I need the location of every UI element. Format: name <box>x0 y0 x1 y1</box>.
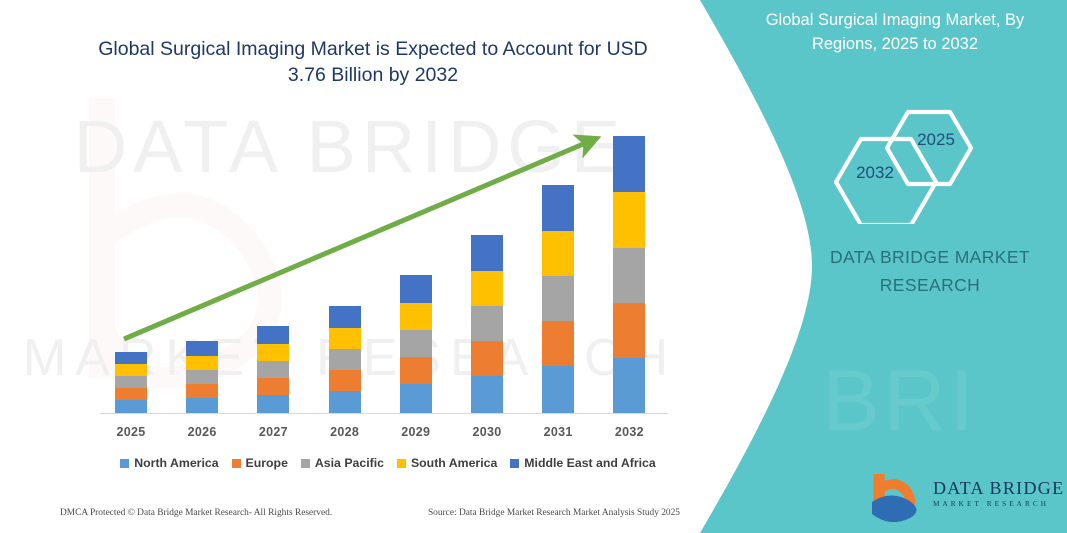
bar-segment <box>542 276 574 321</box>
bar-segment <box>186 341 218 356</box>
bar-segment <box>329 328 361 349</box>
bar-segment <box>186 370 218 384</box>
bar-segment <box>329 306 361 328</box>
legend-swatch-icon <box>510 459 519 468</box>
bar-segment <box>542 321 574 366</box>
hexagon-label-2025: 2025 <box>896 130 976 150</box>
legend-label: South America <box>411 456 497 470</box>
bar-segment <box>471 376 503 413</box>
bar-segment <box>257 395 289 413</box>
legend-item[interactable]: South America <box>397 456 497 470</box>
bar-segment <box>115 400 147 413</box>
bar-segment <box>115 376 147 388</box>
bar-segment <box>257 361 289 378</box>
bar-segment <box>329 370 361 391</box>
logo-title: DATA BRIDGE <box>933 478 1064 499</box>
bar-segment <box>471 306 503 341</box>
bar-segment <box>329 349 361 370</box>
bar-segment <box>400 384 432 413</box>
bar-segment <box>329 391 361 413</box>
x-axis-label-2031: 2031 <box>523 425 593 439</box>
bar-2028 <box>329 306 361 413</box>
hexagon-pair <box>820 96 1050 224</box>
x-axis-label-2032: 2032 <box>594 425 664 439</box>
bar-2032 <box>613 136 645 413</box>
x-axis-line <box>100 413 668 414</box>
panel-watermark: BRI <box>822 353 977 449</box>
bar-segment <box>115 364 147 376</box>
legend-label: Middle East and Africa <box>524 456 655 470</box>
legend-swatch-icon <box>232 459 241 468</box>
bar-segment <box>400 357 432 384</box>
bar-segment <box>257 344 289 361</box>
x-axis-label-2025: 2025 <box>96 425 166 439</box>
footer: DMCA Protected © Data Bridge Market Rese… <box>60 508 680 518</box>
panel-title: Global Surgical Imaging Market, By Regio… <box>735 8 1055 56</box>
legend-item[interactable]: Asia Pacific <box>301 456 384 470</box>
legend-swatch-icon <box>301 459 310 468</box>
legend-item[interactable]: North America <box>120 456 218 470</box>
bar-segment <box>471 235 503 271</box>
bar-2026 <box>186 341 218 413</box>
legend-label: Europe <box>246 456 288 470</box>
bar-segment <box>542 231 574 276</box>
bar-segment <box>471 341 503 376</box>
footer-source: Source: Data Bridge Market Research Mark… <box>428 508 680 518</box>
bar-segment <box>613 192 645 248</box>
bar-2027 <box>257 326 289 413</box>
data-bridge-logo-mark <box>866 470 930 522</box>
bar-segment <box>257 326 289 344</box>
bar-2029 <box>400 275 432 413</box>
infographic-canvas: DATA BRIDGE MARKET RESEARCH Global Surgi… <box>0 0 1067 533</box>
logo-subtitle: MARKET RESEARCH <box>933 500 1049 508</box>
bar-segment <box>186 398 218 413</box>
chart-plot-area: 20252026202720282029203020312032 <box>0 0 700 533</box>
legend-label: Asia Pacific <box>315 456 384 470</box>
bar-segment <box>186 384 218 398</box>
bar-segment <box>400 303 432 330</box>
x-axis-label-2029: 2029 <box>381 425 451 439</box>
chart-legend: North AmericaEuropeAsia PacificSouth Ame… <box>100 456 676 470</box>
bar-segment <box>613 303 645 358</box>
bar-segment <box>613 136 645 192</box>
bar-segment <box>115 388 147 400</box>
x-axis-label-2030: 2030 <box>452 425 522 439</box>
legend-item[interactable]: Middle East and Africa <box>510 456 655 470</box>
legend-swatch-icon <box>397 459 406 468</box>
bar-segment <box>542 366 574 413</box>
bar-segment <box>257 378 289 395</box>
bar-segment <box>186 356 218 370</box>
bar-segment <box>613 358 645 413</box>
x-axis-label-2027: 2027 <box>238 425 308 439</box>
bar-2025 <box>115 352 147 413</box>
bar-segment <box>542 185 574 231</box>
hexagon-label-2032: 2032 <box>835 163 915 183</box>
bar-2030 <box>471 235 503 413</box>
bar-segment <box>115 352 147 364</box>
footer-copyright: DMCA Protected © Data Bridge Market Rese… <box>60 508 332 518</box>
bar-segment <box>613 248 645 303</box>
panel-brand-text: DATA BRIDGE MARKET RESEARCH <box>800 243 1060 299</box>
bar-segment <box>400 275 432 303</box>
x-axis-label-2026: 2026 <box>167 425 237 439</box>
growth-trend-arrow <box>0 0 700 533</box>
bar-2031 <box>542 185 574 413</box>
legend-label: North America <box>134 456 218 470</box>
bar-segment <box>471 271 503 306</box>
legend-item[interactable]: Europe <box>232 456 288 470</box>
x-axis-label-2028: 2028 <box>310 425 380 439</box>
legend-swatch-icon <box>120 459 129 468</box>
bar-segment <box>400 330 432 357</box>
